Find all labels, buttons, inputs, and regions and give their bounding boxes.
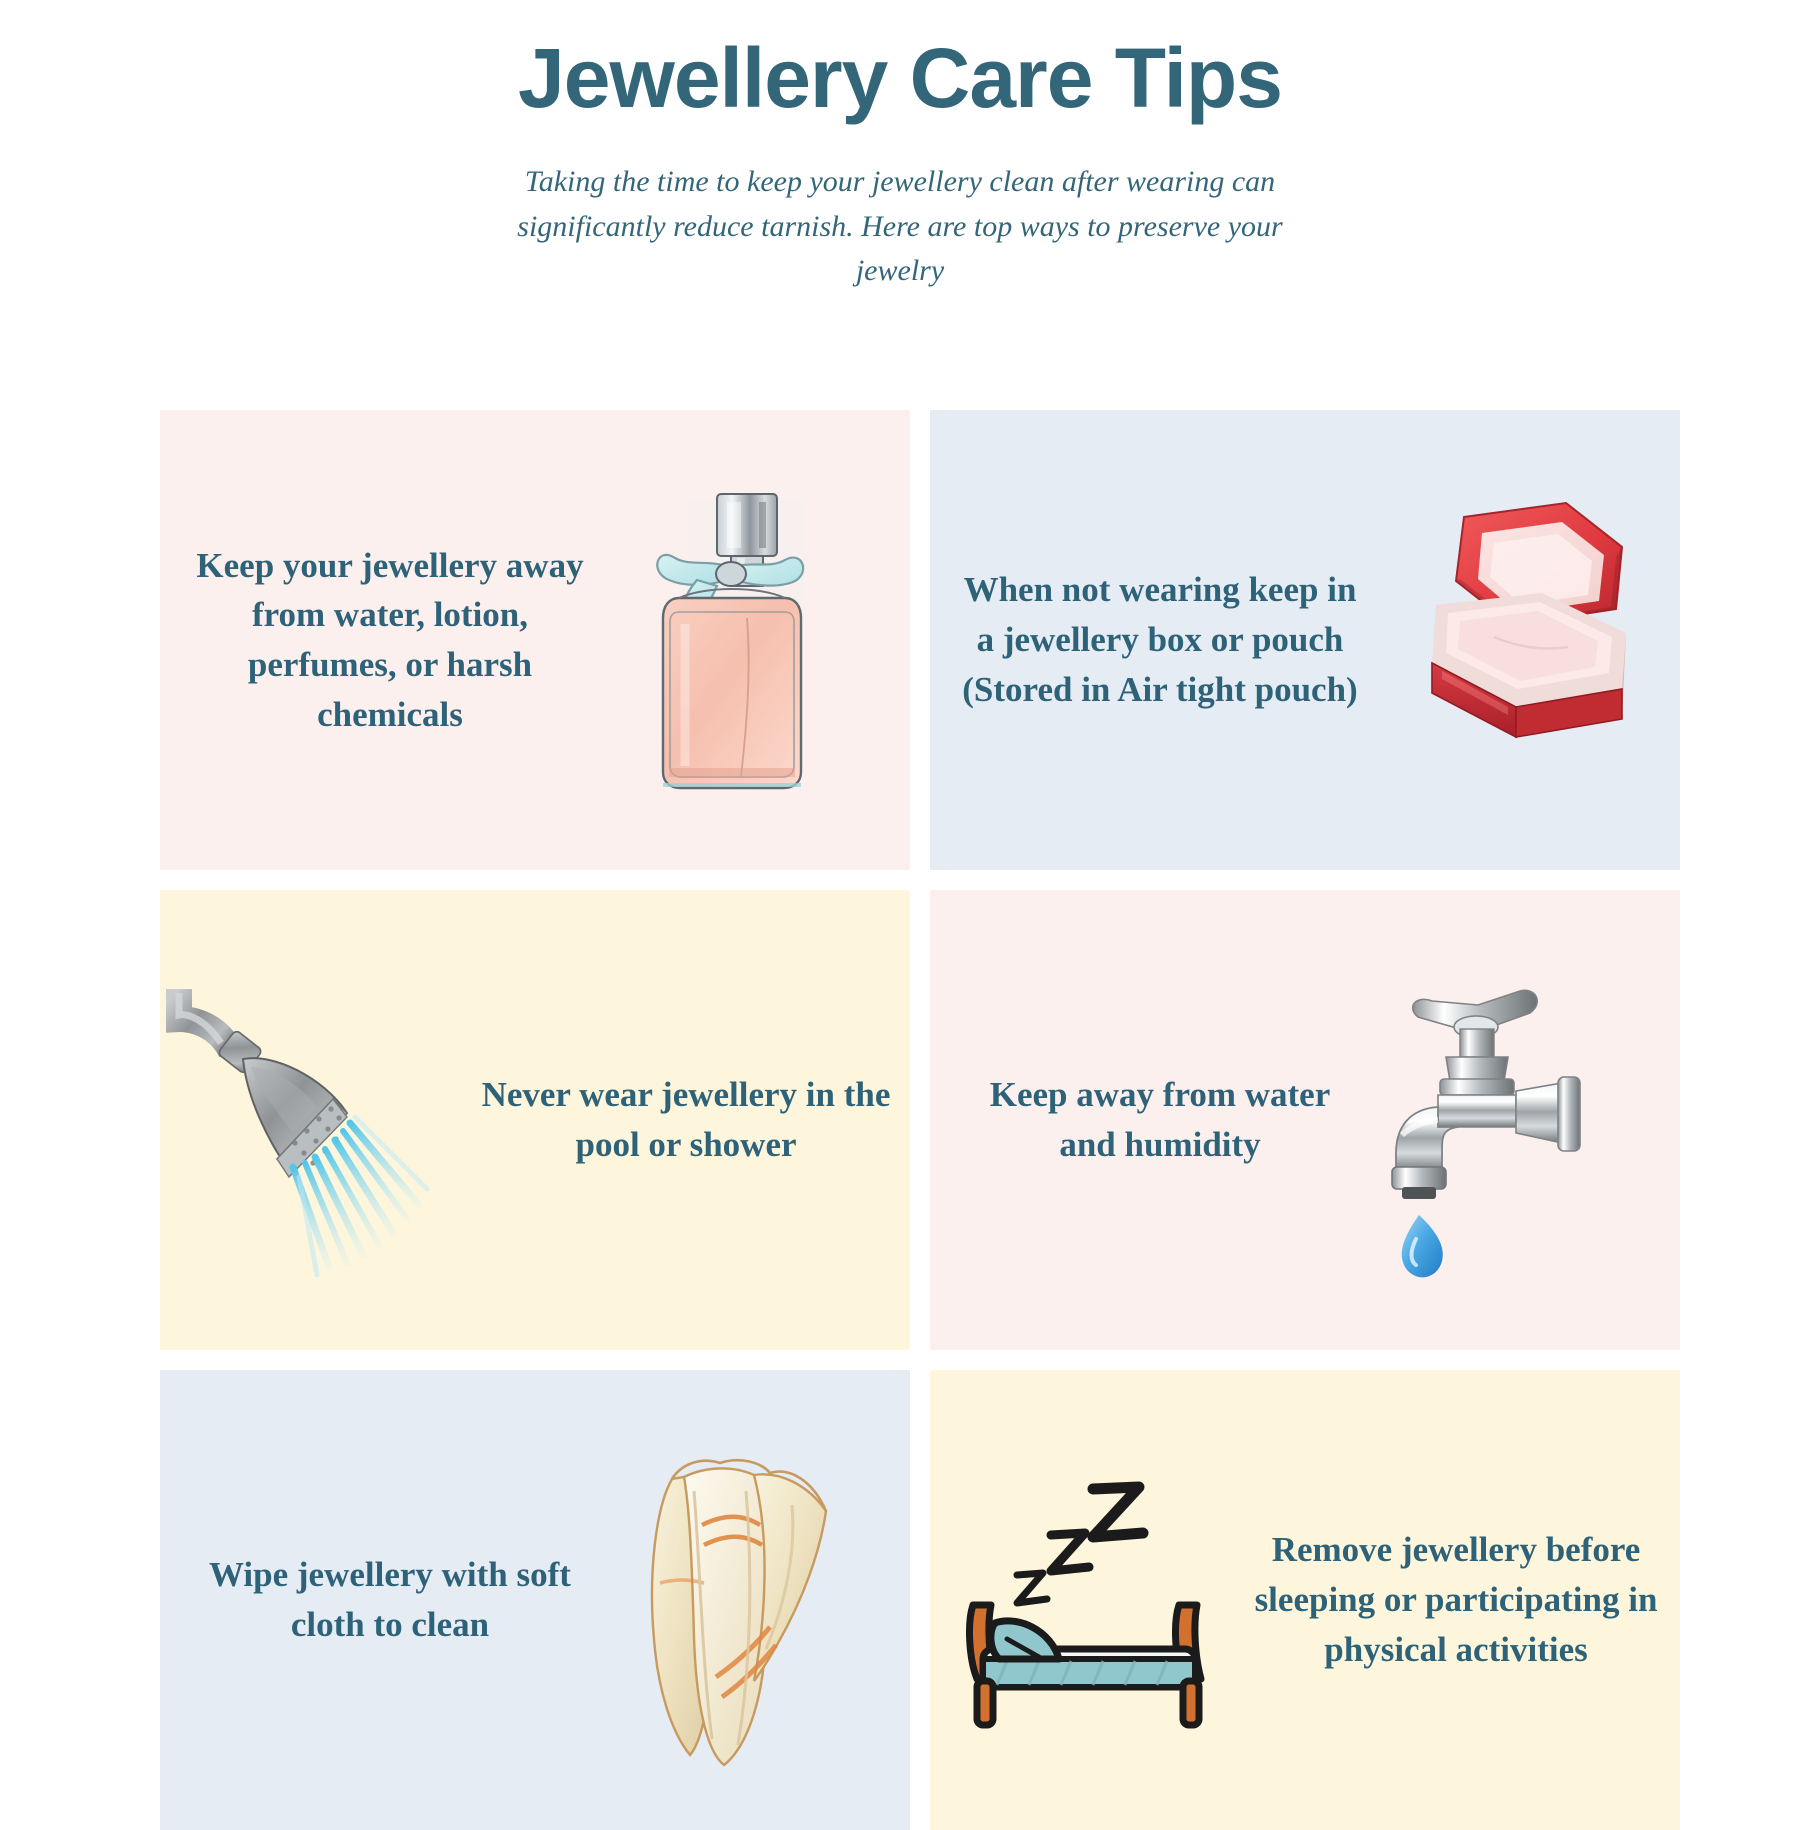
tip-card-remove-before-sleep: Remove jewellery before sleeping or part… xyxy=(930,1370,1680,1830)
tip-card-art xyxy=(160,890,480,1350)
tip-card-art xyxy=(1360,890,1680,1350)
tip-card-text: Keep your jewellery away from water, lot… xyxy=(160,541,590,740)
tip-card-text: Keep away from water and humidity xyxy=(930,1070,1360,1169)
header: Jewellery Care Tips Taking the time to k… xyxy=(0,0,1800,293)
tips-grid: Keep your jewellery away from water, lot… xyxy=(160,410,1640,1830)
tip-card-art xyxy=(590,410,910,870)
tip-card-text: When not wearing keep in a jewellery box… xyxy=(930,565,1360,714)
tip-card-text: Remove jewellery before sleeping or part… xyxy=(1250,1525,1680,1674)
tip-card-no-pool-or-shower: Never wear jewellery in the pool or show… xyxy=(160,890,910,1350)
bed-sleeping-icon xyxy=(943,1453,1243,1753)
tip-card-avoid-chemicals: Keep your jewellery away from water, lot… xyxy=(160,410,910,870)
polishing-cloth-icon xyxy=(620,1433,880,1773)
tip-card-wipe-with-cloth: Wipe jewellery with soft cloth to clean xyxy=(160,1370,910,1830)
infographic-page: Jewellery Care Tips Taking the time to k… xyxy=(0,0,1800,1800)
page-title: Jewellery Care Tips xyxy=(0,34,1800,122)
perfume-bottle-icon xyxy=(635,480,865,810)
tip-card-art xyxy=(930,1370,1250,1830)
shower-head-icon xyxy=(165,967,465,1287)
faucet-icon xyxy=(1380,957,1660,1287)
tip-card-text: Never wear jewellery in the pool or show… xyxy=(480,1070,910,1169)
page-subtitle: Taking the time to keep your jewellery c… xyxy=(505,160,1295,293)
tip-card-art xyxy=(590,1370,910,1830)
tip-card-avoid-humidity: Keep away from water and humidity xyxy=(930,890,1680,1350)
ring-box-icon xyxy=(1390,497,1650,777)
tip-card-art xyxy=(1360,410,1680,870)
tip-card-text: Wipe jewellery with soft cloth to clean xyxy=(160,1550,590,1649)
tip-card-store-in-box: When not wearing keep in a jewellery box… xyxy=(930,410,1680,870)
